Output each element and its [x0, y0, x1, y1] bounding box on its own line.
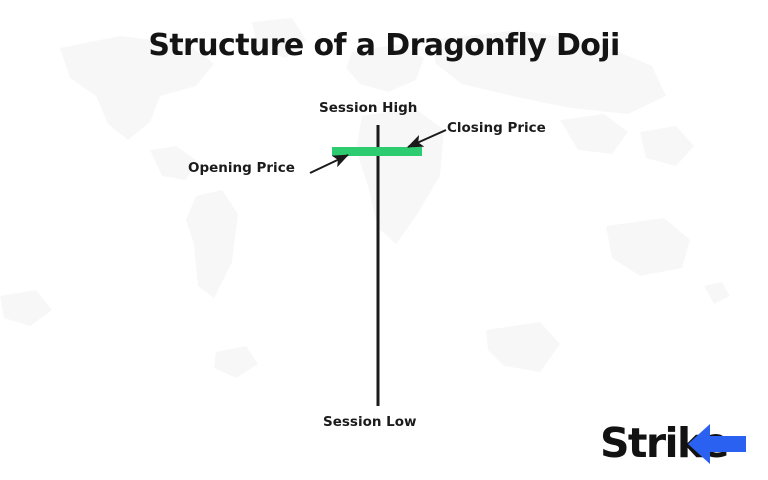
left-arrow-icon	[688, 424, 750, 464]
dragonfly-doji-diagram	[0, 0, 768, 480]
candle-body	[332, 147, 422, 156]
label-session-high: Session High	[319, 100, 417, 116]
strike-logo: Strike	[600, 418, 756, 468]
infographic-canvas: Structure of a Dragonfly Doji Session Hi…	[0, 0, 768, 480]
label-opening-price: Opening Price	[188, 160, 295, 176]
closing-price-arrow	[408, 130, 446, 147]
label-session-low: Session Low	[323, 414, 417, 430]
opening-price-arrow	[310, 155, 348, 173]
label-closing-price: Closing Price	[447, 120, 546, 136]
